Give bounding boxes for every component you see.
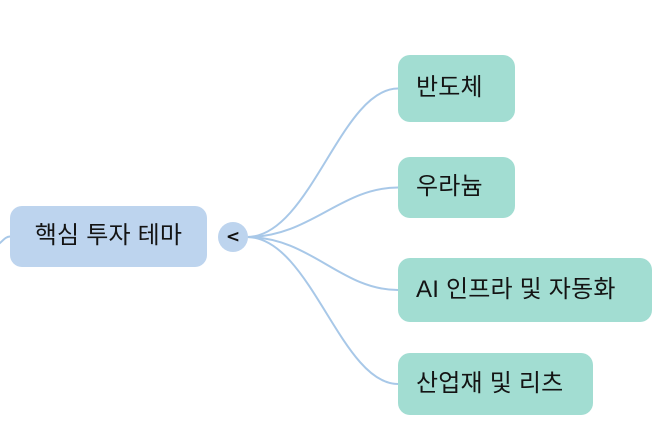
branch-node-label: AI 인프라 및 자동화 [416, 277, 616, 303]
branch-node-label: 산업재 및 리츠 [416, 371, 563, 397]
parent-connector-stub [0, 237, 10, 249]
mindmap-canvas: 핵심 투자 테마 < 반도체 우라늄 AI 인프라 및 자동화 산업재 및 리츠 [0, 0, 660, 448]
branch-node-uranium[interactable]: 우라늄 [398, 157, 515, 218]
root-node-label: 핵심 투자 테마 [35, 223, 182, 249]
branch-node-semiconductor[interactable]: 반도체 [398, 55, 515, 122]
connector-path [247, 89, 398, 238]
branch-node-label: 우라늄 [416, 174, 483, 200]
collapse-toggle-button[interactable]: < [218, 222, 248, 252]
branch-node-label: 반도체 [416, 75, 483, 101]
root-node[interactable]: 핵심 투자 테마 [10, 206, 207, 267]
chevron-left-icon: < [226, 229, 240, 246]
branch-node-ai-infra[interactable]: AI 인프라 및 자동화 [398, 258, 652, 322]
connector-path [247, 237, 398, 290]
branch-node-industrials-reits[interactable]: 산업재 및 리츠 [398, 353, 593, 415]
connector-path [247, 237, 398, 384]
